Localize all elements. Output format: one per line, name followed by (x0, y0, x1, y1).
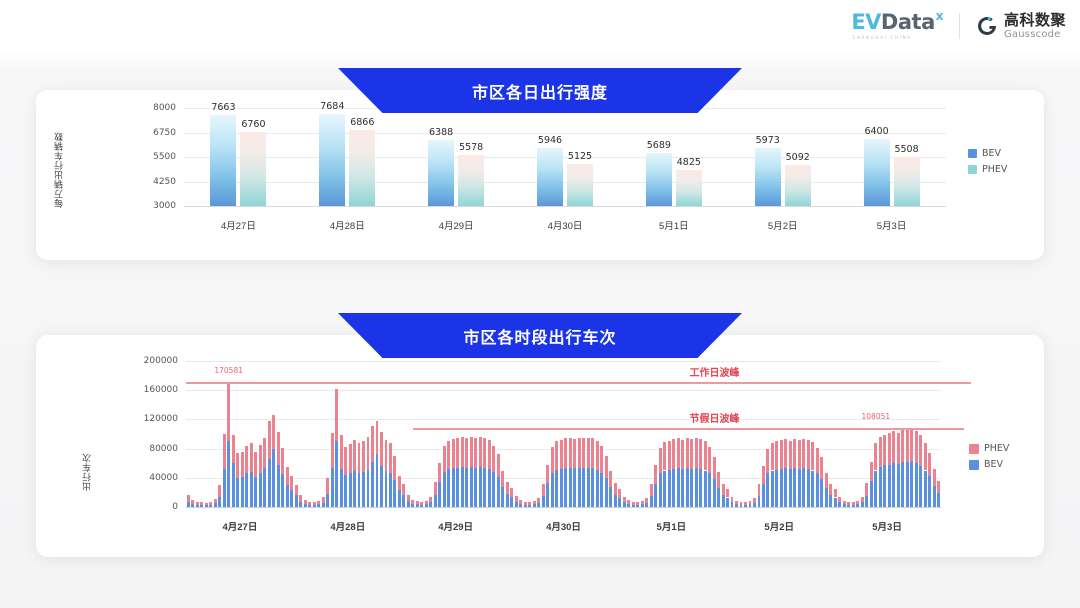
chart2-bar-bev-63 (470, 467, 473, 507)
chart2-bar-bev-151 (865, 496, 868, 507)
chart2-bar-bev-86 (573, 468, 576, 507)
chart2-bar-bev-32 (331, 468, 334, 507)
chart2-gridline (186, 390, 941, 391)
chart2-bar-bev-3 (200, 505, 203, 507)
chart2-bar-phev-143 (829, 484, 832, 495)
chart2-bar-phev-157 (892, 431, 895, 463)
evdata-logo-wordmark: EVDatax (851, 12, 943, 33)
chart2-bar-bev-157 (892, 463, 895, 507)
chart2-bar-phev-163 (919, 435, 922, 466)
chart2-bar-phev-47 (398, 476, 401, 491)
chart1-gridline (184, 133, 946, 134)
chart2-annotation-line-holiday (413, 428, 964, 429)
chart2-bar-phev-131 (775, 441, 778, 469)
chart2-bar-bev-96 (618, 498, 621, 507)
chart2-bar-bev-8 (223, 469, 226, 507)
chart2-bar-bev-140 (816, 473, 819, 507)
chart2-bar-bev-156 (888, 465, 891, 507)
chart2-bar-phev-90 (591, 438, 594, 468)
chart2-bar-phev-104 (654, 465, 657, 483)
chart2-bar-phev-117 (713, 457, 716, 479)
chart2-bar-phev-91 (596, 441, 599, 470)
gausscode-logo: 高科数聚 Gausscode (976, 13, 1066, 40)
chart2-bar-bev-74 (519, 504, 522, 507)
chart2-bar-bev-136 (798, 469, 801, 507)
chart1-bar-phev-2 (458, 155, 484, 206)
chart2-bar-phev-152 (870, 462, 873, 482)
chart2-bar-phev-33 (335, 389, 338, 442)
chart2-bar-phev-69 (497, 454, 500, 477)
chart1-legend: BEVPHEV (968, 148, 1007, 175)
chart2-legend-swatch-phev (969, 444, 979, 454)
chart2-y-tick: 80000 (108, 444, 178, 454)
chart2-bar-bev-70 (501, 487, 504, 507)
chart2-bar-phev-151 (865, 483, 868, 496)
chart2-bar-bev-80 (546, 483, 549, 507)
chart2-bar-phev-111 (686, 438, 689, 468)
chart2-bar-bev-146 (843, 504, 846, 507)
chart1-legend-item-phev[interactable]: PHEV (968, 164, 1007, 175)
chart1-bar-value-bev-1: 7684 (302, 101, 362, 112)
chart2-bar-bev-92 (600, 473, 603, 507)
chart2-bar-bev-117 (713, 479, 716, 507)
chart2-bar-phev-167 (937, 481, 940, 493)
chart2-bar-phev-137 (802, 439, 805, 468)
chart2-bar-phev-32 (331, 433, 334, 468)
chart2-bar-phev-161 (910, 428, 913, 461)
chart2-bar-phev-61 (461, 437, 464, 467)
chart1-bar-value-phev-2: 5578 (441, 142, 501, 153)
chart2-bar-phev-94 (609, 471, 612, 487)
chart2-bar-phev-11 (236, 453, 239, 478)
chart2-bar-bev-162 (915, 463, 918, 507)
chart2-bar-bev-14 (250, 472, 253, 507)
chart2-bar-bev-105 (659, 473, 662, 507)
chart1-bar-value-bev-6: 6400 (847, 126, 907, 137)
chart2-bar-bev-111 (686, 468, 689, 507)
chart2-bar-bev-82 (555, 470, 558, 507)
chart2-bar-bev-134 (789, 469, 792, 507)
chart1-bar-value-phev-6: 5508 (877, 144, 937, 155)
chart2-point-label-1: 108051 (862, 412, 891, 421)
chart2-bar-bev-29 (317, 504, 320, 507)
chart2-bar-phev-24 (295, 485, 298, 495)
chart2-bar-bev-147 (847, 505, 850, 507)
chart2-bar-bev-39 (362, 472, 365, 507)
chart2-bar-bev-77 (533, 504, 536, 507)
chart2-bar-phev-66 (483, 438, 486, 468)
chart2-bar-bev-31 (326, 494, 329, 507)
chart2-bar-bev-52 (420, 505, 423, 507)
chart2-bar-bev-85 (569, 468, 572, 507)
chart2-y-tick: 160000 (108, 385, 178, 395)
chart2-bar-bev-125 (749, 504, 752, 507)
chart2-bar-phev-162 (915, 431, 918, 463)
chart2-bar-bev-164 (924, 471, 927, 508)
chart2-bar-phev-135 (793, 439, 796, 468)
chart2-bar-phev-129 (766, 449, 769, 474)
chart2-bar-bev-6 (214, 503, 217, 507)
chart2-bar-bev-109 (677, 468, 680, 507)
chart2-bar-bev-163 (919, 466, 922, 507)
chart2-bar-bev-112 (690, 469, 693, 507)
chart2-bar-bev-1 (191, 504, 194, 507)
chart1-gridline (184, 182, 946, 183)
chart1-x-tick-6: 5月3日 (877, 218, 907, 232)
chart2-bar-bev-37 (353, 471, 356, 507)
chart2-bar-bev-76 (528, 505, 531, 507)
chart2-legend-item-phev[interactable]: PHEV (969, 443, 1009, 454)
chart2-bar-bev-149 (856, 504, 859, 507)
chart2-bar-bev-153 (874, 471, 877, 508)
chart2-bar-phev-110 (681, 440, 684, 469)
chart1-bar-value-phev-1: 6866 (332, 117, 392, 128)
chart2-bar-bev-73 (515, 502, 518, 507)
chart2-bar-bev-100 (636, 505, 639, 507)
chart2-bar-bev-61 (461, 467, 464, 507)
chart2-x-tick-6: 5月3日 (872, 519, 902, 533)
chart2-bar-bev-55 (434, 495, 437, 507)
chart2-bar-phev-118 (717, 472, 720, 488)
chart2-bar-bev-47 (398, 490, 401, 507)
chart2-bar-phev-156 (888, 433, 891, 464)
chart2-bar-phev-18 (268, 421, 271, 459)
chart2-bar-phev-68 (492, 446, 495, 472)
chart1-legend-item-bev[interactable]: BEV (968, 148, 1007, 159)
chart2-bar-bev-17 (263, 468, 266, 507)
chart2-bar-bev-25 (299, 502, 302, 507)
chart2-bar-bev-155 (883, 465, 886, 507)
chart2-bar-bev-26 (304, 504, 307, 507)
chart2-y-axis-label: 出行车次 (80, 385, 93, 491)
chart2-bar-phev-79 (542, 484, 545, 496)
chart2-bar-bev-116 (708, 473, 711, 507)
chart2-bar-bev-24 (295, 495, 298, 507)
chart2-bar-phev-164 (924, 443, 927, 471)
chart2-bar-bev-87 (578, 468, 581, 507)
chart2-bar-phev-114 (699, 439, 702, 469)
chart2-bar-bev-51 (416, 504, 419, 507)
chart2-bar-bev-22 (286, 485, 289, 507)
chart2-legend-label-bev: BEV (984, 459, 1003, 470)
chart2-bar-phev-37 (353, 440, 356, 471)
chart1-bar-value-phev-0: 6760 (223, 119, 283, 130)
chart2-bar-bev-60 (456, 468, 459, 507)
chart2-bar-phev-120 (726, 489, 729, 497)
chart-hourly-travel-trips: 出行车次040000800001200001600002000004月27日4月… (36, 335, 1044, 557)
chart2-bar-phev-22 (286, 467, 289, 485)
chart1-y-axis-label: 每万辆出行车辆数 (52, 110, 65, 208)
chart2-bar-phev-15 (254, 452, 257, 477)
card-hourly-travel-trips: 出行车次040000800001200001600002000004月27日4月… (36, 335, 1044, 557)
chart2-bar-bev-145 (838, 502, 841, 507)
chart2-bar-bev-45 (389, 473, 392, 507)
chart2-bar-bev-148 (852, 505, 855, 507)
chart2-point-label-0: 170581 (214, 366, 243, 375)
chart2-bar-bev-5 (209, 505, 212, 507)
chart1-legend-label-bev: BEV (982, 148, 1001, 159)
chart2-x-tick-1: 4月28日 (330, 519, 365, 533)
chart2-bar-bev-21 (281, 474, 284, 507)
chart2-bar-phev-38 (358, 443, 361, 473)
chart1-bar-phev-3 (567, 164, 593, 206)
chart2-bar-phev-9 (227, 382, 230, 441)
chart2-bar-phev-112 (690, 439, 693, 469)
chart2-bar-bev-36 (349, 473, 352, 507)
chart2-x-tick-4: 5月1日 (657, 519, 687, 533)
chart2-bar-bev-141 (820, 479, 823, 507)
chart2-bar-phev-43 (380, 432, 383, 466)
chart2-bar-bev-69 (497, 477, 500, 507)
chart2-bar-bev-167 (937, 493, 940, 507)
chart2-bar-bev-118 (717, 488, 720, 507)
chart2-bar-bev-67 (488, 469, 491, 507)
header-logos: EVDatax SHANGHAI CHINA 高科数聚 Gausscode (851, 12, 1066, 40)
chart2-bar-bev-166 (933, 486, 936, 507)
chart1-x-tick-3: 4月30日 (548, 218, 583, 232)
chart2-bar-phev-46 (393, 456, 396, 480)
chart2-annotation-line-weekday (186, 382, 971, 383)
chart2-bar-bev-43 (380, 466, 383, 507)
card-daily-travel-intensity: 每万辆出行车辆数30004250550067508000766367604月27… (36, 90, 1044, 260)
chart2-bar-phev-67 (488, 440, 491, 469)
chart2-bar-bev-54 (429, 502, 432, 507)
chart2-bar-phev-136 (798, 440, 801, 469)
chart2-bar-phev-166 (933, 469, 936, 486)
chart2-gridline (186, 419, 941, 420)
chart1-bar-phev-4 (676, 170, 702, 206)
chart2-bar-bev-144 (834, 498, 837, 507)
banner-daily-travel-intensity: 市区各日出行强度 (338, 68, 742, 113)
chart2-bar-phev-13 (245, 446, 248, 474)
logo-divider (959, 13, 960, 39)
chart2-bar-phev-87 (578, 438, 581, 468)
chart2-bar-bev-78 (537, 503, 540, 507)
chart2-bar-bev-114 (699, 469, 702, 507)
chart2-bar-bev-75 (524, 505, 527, 507)
chart1-y-tick: 5500 (116, 152, 176, 162)
chart2-bar-bev-7 (218, 497, 221, 507)
chart1-legend-swatch-phev (968, 165, 977, 174)
chart2-bar-bev-119 (722, 495, 725, 507)
chart2-bar-phev-17 (263, 438, 266, 469)
chart2-bar-bev-83 (560, 469, 563, 507)
chart2-bar-bev-44 (385, 471, 388, 507)
chart1-y-tick: 3000 (116, 201, 176, 211)
chart2-bar-bev-106 (663, 471, 666, 508)
chart2-bar-bev-130 (771, 471, 774, 508)
chart2-bar-bev-120 (726, 498, 729, 507)
chart2-bar-phev-62 (465, 438, 468, 467)
chart2-annotation-label-holiday: 节假日波峰 (690, 410, 740, 425)
chart2-bar-bev-13 (245, 473, 248, 507)
chart1-bar-value-bev-5: 5973 (738, 135, 798, 146)
chart2-bar-phev-130 (771, 443, 774, 471)
chart2-bar-bev-18 (268, 459, 271, 507)
chart2-bar-phev-8 (223, 434, 226, 469)
chart2-bar-bev-72 (510, 497, 513, 507)
chart2-bar-bev-27 (308, 505, 311, 507)
chart2-legend-swatch-bev (969, 460, 979, 470)
chart2-bar-bev-122 (735, 504, 738, 507)
chart2-bar-bev-135 (793, 468, 796, 507)
chart1-bar-value-bev-4: 5689 (629, 140, 689, 151)
chart2-bar-phev-55 (434, 482, 437, 495)
chart2-bar-bev-2 (196, 505, 199, 507)
chart2-bar-phev-134 (789, 441, 792, 469)
chart2-y-tick: 0 (108, 502, 178, 512)
evdata-logo: EVDatax SHANGHAI CHINA (851, 12, 943, 40)
banner-hourly-travel-trips: 市区各时段出行车次 (338, 313, 742, 358)
chart2-bar-phev-88 (582, 438, 585, 468)
chart2-bar-phev-96 (618, 489, 621, 498)
gausscode-logo-text: 高科数聚 Gausscode (1004, 13, 1066, 40)
chart2-bar-bev-165 (928, 476, 931, 507)
chart2-bar-bev-158 (897, 464, 900, 507)
chart2-bar-bev-138 (807, 469, 810, 507)
chart2-bar-phev-93 (605, 456, 608, 478)
chart2-bar-bev-40 (367, 470, 370, 507)
chart2-bar-bev-30 (322, 503, 325, 507)
chart2-bar-bev-128 (762, 484, 765, 507)
chart2-bar-bev-4 (205, 505, 208, 507)
chart2-bar-phev-83 (560, 440, 563, 469)
chart2-bar-bev-79 (542, 496, 545, 507)
chart2-bar-bev-121 (731, 502, 734, 507)
chart2-bar-phev-48 (402, 484, 405, 495)
chart2-bar-phev-57 (443, 446, 446, 472)
chart1-bar-value-bev-3: 5946 (520, 135, 580, 146)
chart2-bar-phev-105 (659, 448, 662, 474)
chart2-y-tick: 200000 (108, 356, 178, 366)
chart2-bar-bev-38 (358, 473, 361, 507)
chart2-legend-label-phev: PHEV (984, 443, 1009, 454)
chart1-x-tick-2: 4月29日 (439, 218, 474, 232)
chart2-bar-phev-72 (510, 488, 513, 497)
chart2-bar-bev-81 (551, 473, 554, 507)
chart2-bar-phev-84 (564, 438, 567, 468)
chart2-bar-phev-10 (232, 435, 235, 463)
chart1-x-tick-1: 4月28日 (330, 218, 365, 232)
chart2-bar-phev-39 (362, 441, 365, 472)
chart2-bar-bev-101 (641, 504, 644, 507)
chart1-bar-value-bev-2: 6388 (411, 127, 471, 138)
chart2-bar-bev-28 (313, 505, 316, 507)
chart2-bar-phev-14 (250, 443, 253, 472)
chart2-bar-bev-41 (371, 462, 374, 507)
chart2-bar-bev-34 (340, 469, 343, 507)
chart2-bar-bev-56 (438, 482, 441, 507)
chart2-bar-bev-42 (376, 454, 379, 507)
chart2-bar-phev-56 (438, 463, 441, 482)
chart1-bar-phev-1 (349, 130, 375, 206)
chart2-bar-phev-20 (277, 432, 280, 465)
chart2-bar-phev-60 (456, 438, 459, 468)
chart2-bar-bev-12 (241, 477, 244, 507)
chart2-bar-bev-46 (393, 480, 396, 507)
evdata-logo-data: Data (881, 12, 935, 33)
chart2-bar-bev-98 (627, 504, 630, 507)
chart2-bar-phev-115 (704, 441, 707, 470)
chart2-bar-phev-109 (677, 438, 680, 468)
chart2-bar-bev-108 (672, 469, 675, 507)
chart2-bar-phev-16 (259, 445, 262, 473)
chart2-x-tick-5: 5月2日 (764, 519, 794, 533)
chart2-bar-phev-144 (834, 489, 837, 497)
chart2-bar-phev-89 (587, 438, 590, 468)
chart2-bar-bev-91 (596, 470, 599, 507)
chart1-y-tick: 6750 (116, 128, 176, 138)
chart2-bar-bev-23 (290, 490, 293, 507)
chart2-bar-phev-155 (883, 435, 886, 466)
chart2-bar-bev-123 (740, 505, 743, 507)
chart2-bar-phev-95 (614, 483, 617, 495)
chart2-bar-bev-89 (587, 468, 590, 507)
chart2-bar-bev-150 (861, 502, 864, 507)
evdata-logo-tagline: SHANGHAI CHINA (852, 35, 911, 40)
chart1-bar-value-phev-4: 4825 (659, 157, 719, 168)
chart2-y-tick: 40000 (108, 473, 178, 483)
chart2-bar-phev-70 (501, 471, 504, 487)
chart2-legend: PHEVBEV (969, 443, 1009, 470)
chart2-bar-phev-7 (218, 485, 221, 497)
chart2-bar-bev-131 (775, 470, 778, 507)
chart2-bar-bev-58 (447, 469, 450, 507)
chart2-bar-bev-126 (753, 503, 756, 507)
chart2-bar-bev-154 (879, 467, 882, 507)
chart1-y-tick: 4250 (116, 177, 176, 187)
chart2-y-tick: 120000 (108, 414, 178, 424)
page-root: EVDatax SHANGHAI CHINA 高科数聚 Gausscode 市区… (0, 0, 1080, 608)
chart2-bar-phev-103 (650, 484, 653, 496)
chart2-bar-phev-119 (722, 484, 725, 495)
chart2-bar-bev-62 (465, 468, 468, 507)
chart1-legend-swatch-bev (968, 149, 977, 158)
chart1-gridline (184, 206, 946, 207)
chart-daily-travel-intensity: 每万辆出行车辆数30004250550067508000766367604月27… (36, 90, 1044, 260)
chart2-gridline (186, 361, 941, 362)
chart2-bar-phev-36 (349, 444, 352, 473)
chart2-bar-phev-19 (272, 415, 275, 449)
chart2-bar-bev-11 (236, 478, 239, 507)
chart2-bar-bev-35 (344, 475, 347, 507)
chart2-bar-phev-86 (573, 439, 576, 468)
chart2-bar-bev-161 (910, 461, 913, 507)
chart2-bar-bev-110 (681, 469, 684, 507)
chart2-bar-bev-127 (758, 496, 761, 507)
chart2-bar-phev-108 (672, 439, 675, 469)
chart2-bar-bev-33 (335, 441, 338, 507)
chart1-x-tick-4: 5月1日 (659, 218, 689, 232)
chart2-legend-item-bev[interactable]: BEV (969, 459, 1009, 470)
chart2-bar-phev-107 (668, 441, 671, 470)
chart2-bar-bev-84 (564, 468, 567, 507)
chart1-bar-value-phev-5: 5092 (768, 152, 828, 163)
chart2-bar-phev-45 (389, 443, 392, 473)
chart2-bar-bev-15 (254, 477, 257, 507)
chart2-bar-phev-133 (784, 439, 787, 468)
chart2-bar-phev-63 (470, 437, 473, 467)
chart2-bar-phev-21 (281, 448, 284, 474)
chart2-bar-bev-0 (187, 502, 190, 507)
chart2-bar-phev-71 (506, 482, 509, 494)
chart2-bar-phev-106 (663, 442, 666, 470)
evdata-logo-ev: EV (851, 12, 881, 33)
chart2-bar-bev-20 (277, 465, 280, 507)
chart2-bar-bev-94 (609, 487, 612, 507)
chart2-bar-bev-97 (623, 502, 626, 507)
chart2-bar-phev-132 (780, 440, 783, 469)
